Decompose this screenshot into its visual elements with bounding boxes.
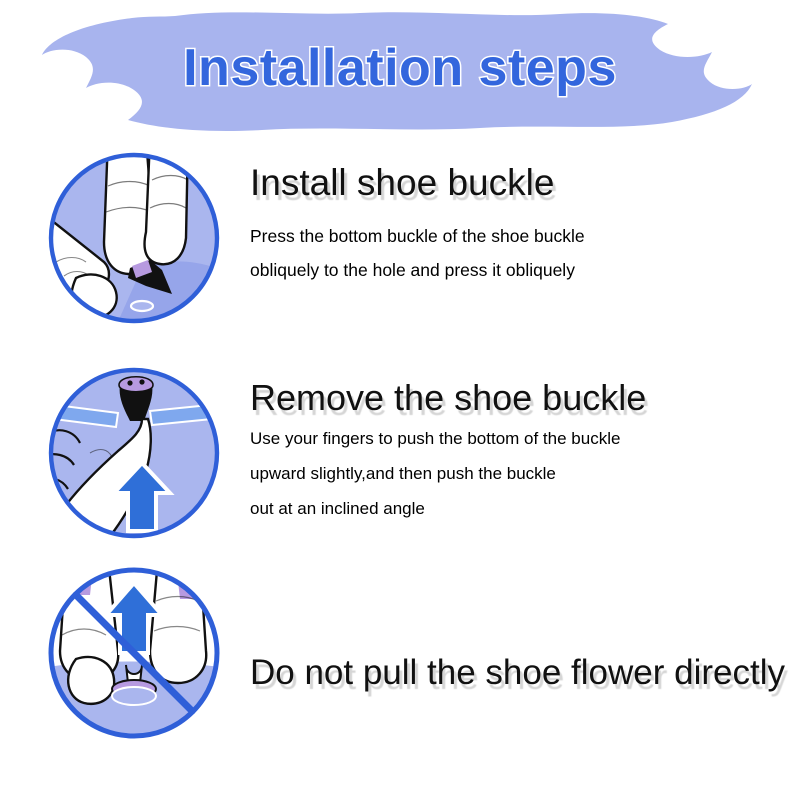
install-shoe-buckle-illustration: [46, 150, 222, 326]
step-1-line-2: obliquely to the hole and press it obliq…: [250, 253, 790, 287]
step-1-text-block: Install shoe buckle Press the bottom buc…: [250, 150, 790, 287]
header-banner: Installation steps: [0, 10, 800, 136]
step-row-do-not-pull: Do not pull the shoe flower directly: [0, 565, 800, 745]
step-row-install: Install shoe buckle Press the bottom buc…: [0, 150, 800, 330]
step-2-line-1: Use your fingers to push the bottom of t…: [250, 422, 790, 457]
step-2-line-2: upward slightly,and then push the buckle: [250, 457, 790, 492]
step-2-line-3: out at an inclined angle: [250, 492, 790, 527]
step-1-line-1: Press the bottom buckle of the shoe buck…: [250, 219, 790, 253]
step-2-heading: Remove the shoe buckle: [250, 365, 790, 418]
step-1-heading: Install shoe buckle: [250, 150, 790, 205]
page-title: Installation steps: [0, 38, 800, 98]
step-2-text-block: Remove the shoe buckle Use your fingers …: [250, 365, 790, 527]
step-1-description: Press the bottom buckle of the shoe buck…: [250, 219, 790, 287]
remove-shoe-buckle-illustration: [46, 365, 222, 541]
step-2-description: Use your fingers to push the bottom of t…: [250, 422, 790, 527]
step-3-heading: Do not pull the shoe flower directly: [250, 565, 790, 693]
do-not-pull-shoe-flower-illustration: [46, 565, 222, 741]
step-3-text-block: Do not pull the shoe flower directly: [250, 565, 790, 693]
step-row-remove: Remove the shoe buckle Use your fingers …: [0, 365, 800, 545]
